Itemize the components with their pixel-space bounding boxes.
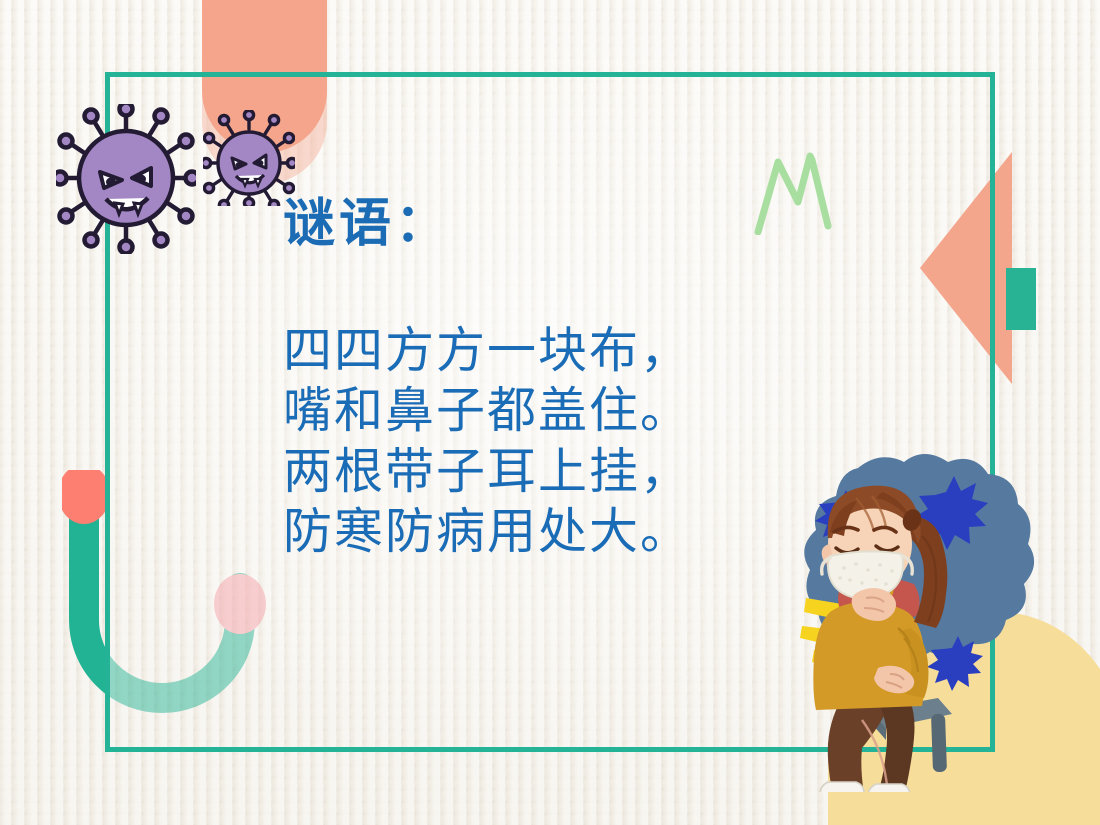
cartoon-virus-small-icon xyxy=(203,110,295,211)
riddle-line-3: 两根带子耳上挂， xyxy=(283,442,803,502)
girl-coughing-illustration xyxy=(786,452,1048,792)
riddle-line-4: 防寒防病用处大。 xyxy=(283,502,803,562)
cartoon-virus-large-icon xyxy=(56,104,196,259)
riddle-body: 四四方方一块布， 嘴和鼻子都盖住。 两根带子耳上挂， 防寒防病用处大。 xyxy=(283,321,803,562)
riddle-text-block: 谜语： 四四方方一块布， 嘴和鼻子都盖住。 两根带子耳上挂， 防寒防病用处大。 xyxy=(283,196,803,562)
slide-canvas: 谜语： 四四方方一块布， 嘴和鼻子都盖住。 两根带子耳上挂， 防寒防病用处大。 xyxy=(0,0,1100,825)
teal-square-decoration xyxy=(1006,268,1036,330)
riddle-line-1: 四四方方一块布， xyxy=(283,321,803,381)
shoes xyxy=(820,782,910,792)
riddle-line-2: 嘴和鼻子都盖住。 xyxy=(283,381,803,441)
riddle-heading: 谜语： xyxy=(283,196,803,253)
salmon-triangle-decoration-faded xyxy=(920,152,1012,384)
teal-arc-decoration xyxy=(62,470,292,720)
legs xyxy=(828,698,915,792)
